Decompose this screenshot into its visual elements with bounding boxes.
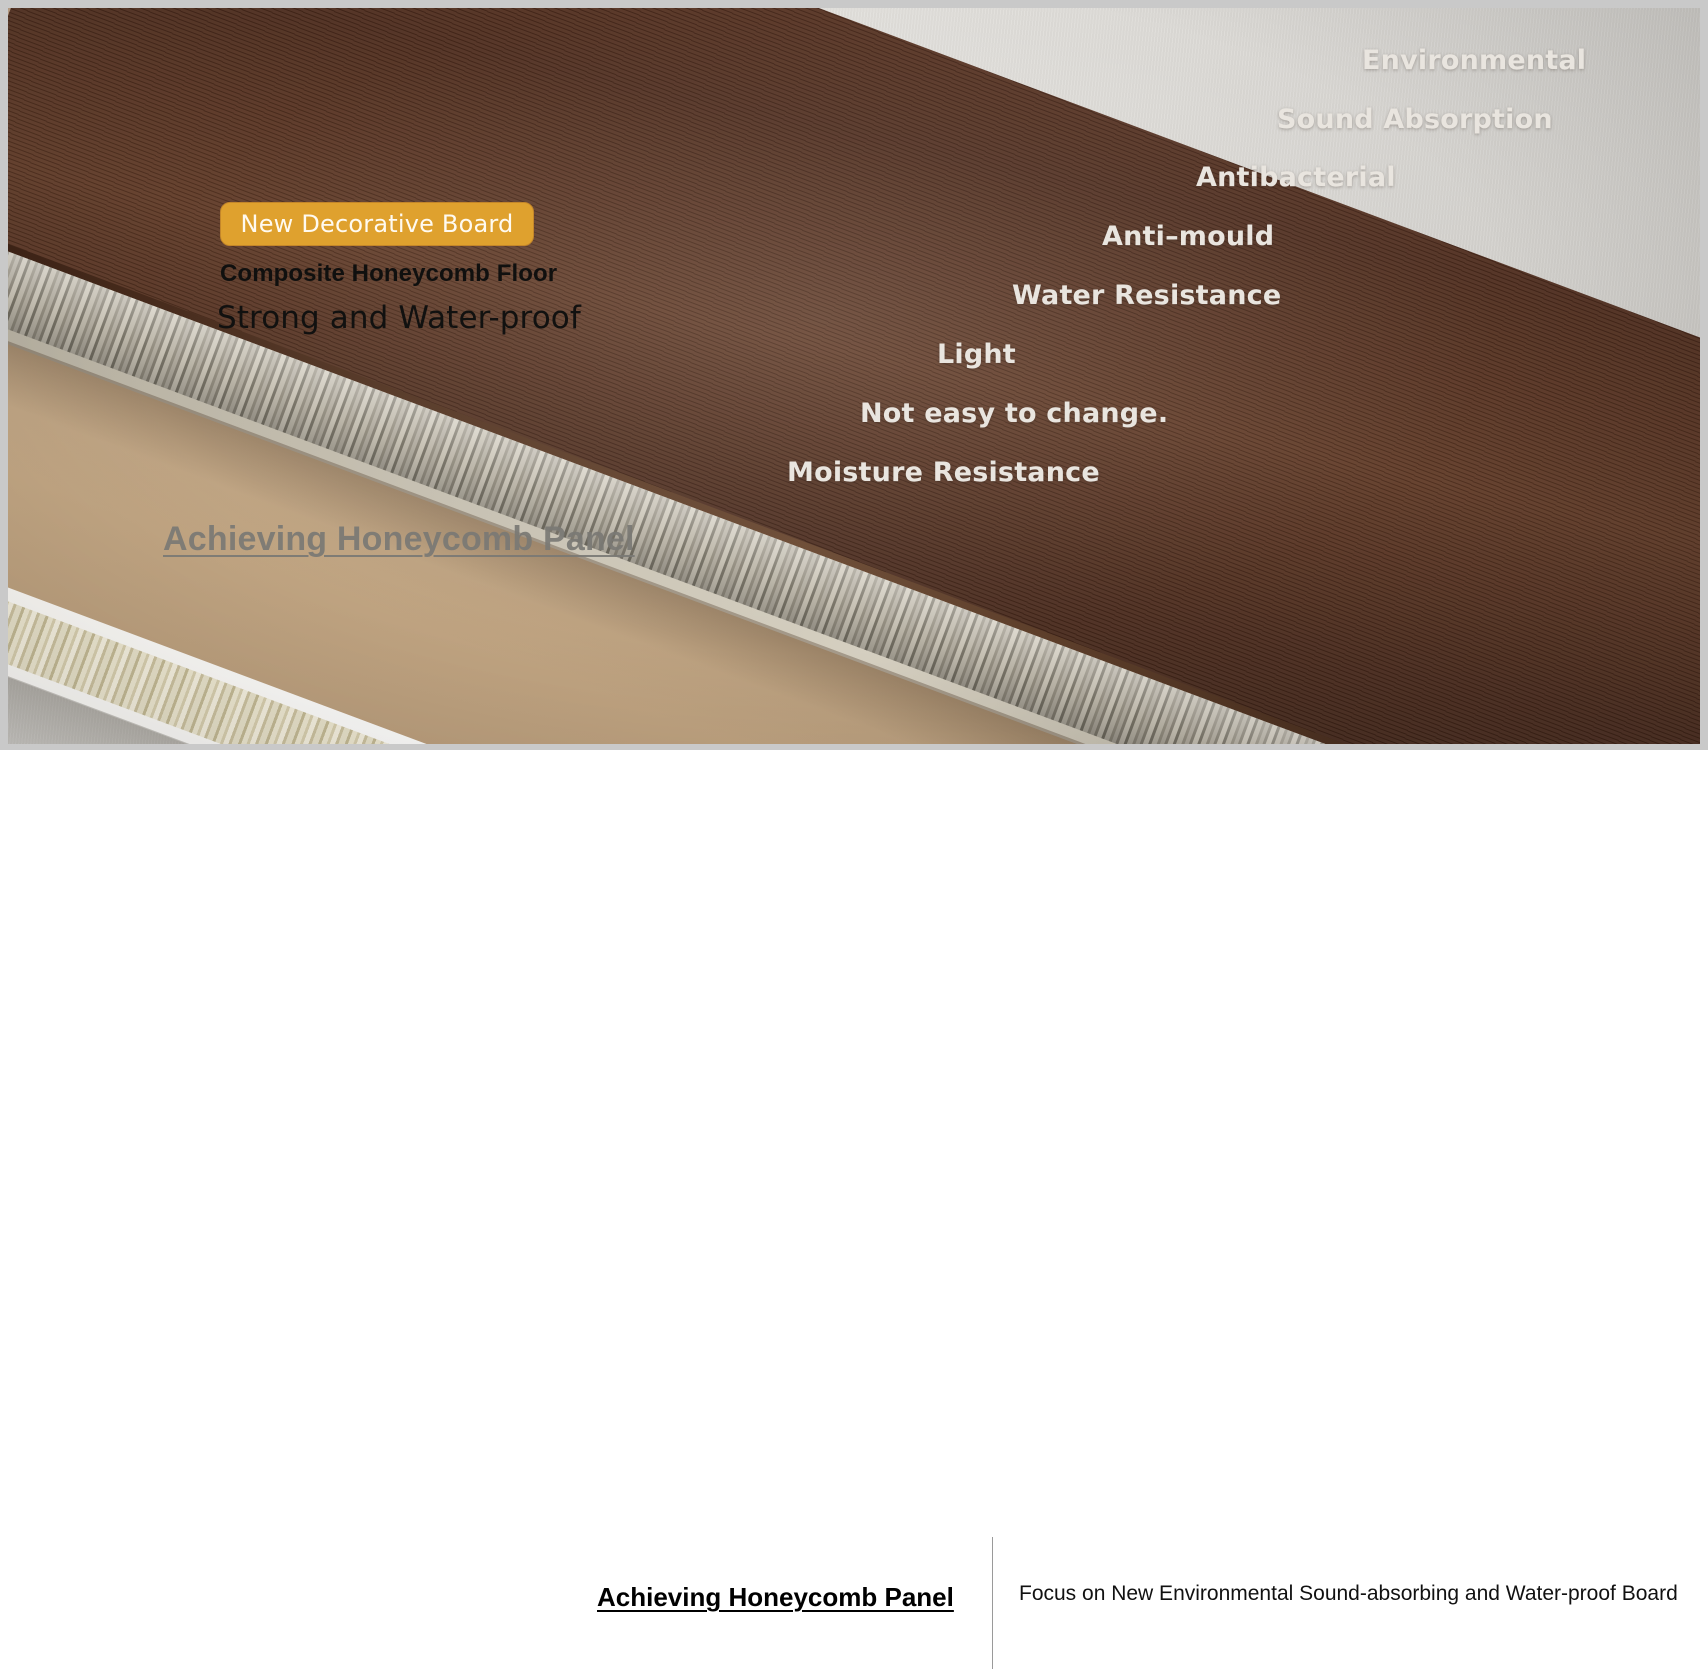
feature-label: Water Resistance xyxy=(1012,280,1281,311)
brand-subtitle: Focus on New Environmental Sound-absorbi… xyxy=(1019,1582,1678,1606)
new-decorative-board-badge: New Decorative Board xyxy=(220,202,534,246)
hero-headline-secondary: Strong and Water-proof xyxy=(217,300,581,336)
feature-label: Antibacterial xyxy=(1196,162,1396,193)
feature-label: Anti–mould xyxy=(1102,221,1274,252)
feature-label: Environmental xyxy=(1362,45,1586,76)
feature-label: Moisture Resistance xyxy=(787,457,1100,488)
brand-title: Achieving Honeycomb Panel xyxy=(597,1582,954,1613)
product-photo: New Decorative Board Composite Honeycomb… xyxy=(8,8,1700,744)
hero-banner: New Decorative Board Composite Honeycomb… xyxy=(0,0,1708,750)
hero-headline-primary: Composite Honeycomb Floor xyxy=(220,260,557,288)
info-bar: Achieving Honeycomb Panel Focus on New E… xyxy=(0,750,1708,960)
feature-label: Not easy to change. xyxy=(860,398,1168,429)
vertical-divider xyxy=(992,1537,993,1669)
feature-label: Light xyxy=(937,339,1016,370)
feature-label: Sound Absorption xyxy=(1277,104,1553,135)
hero-watermark: Achieving Honeycomb Panel xyxy=(163,520,635,559)
